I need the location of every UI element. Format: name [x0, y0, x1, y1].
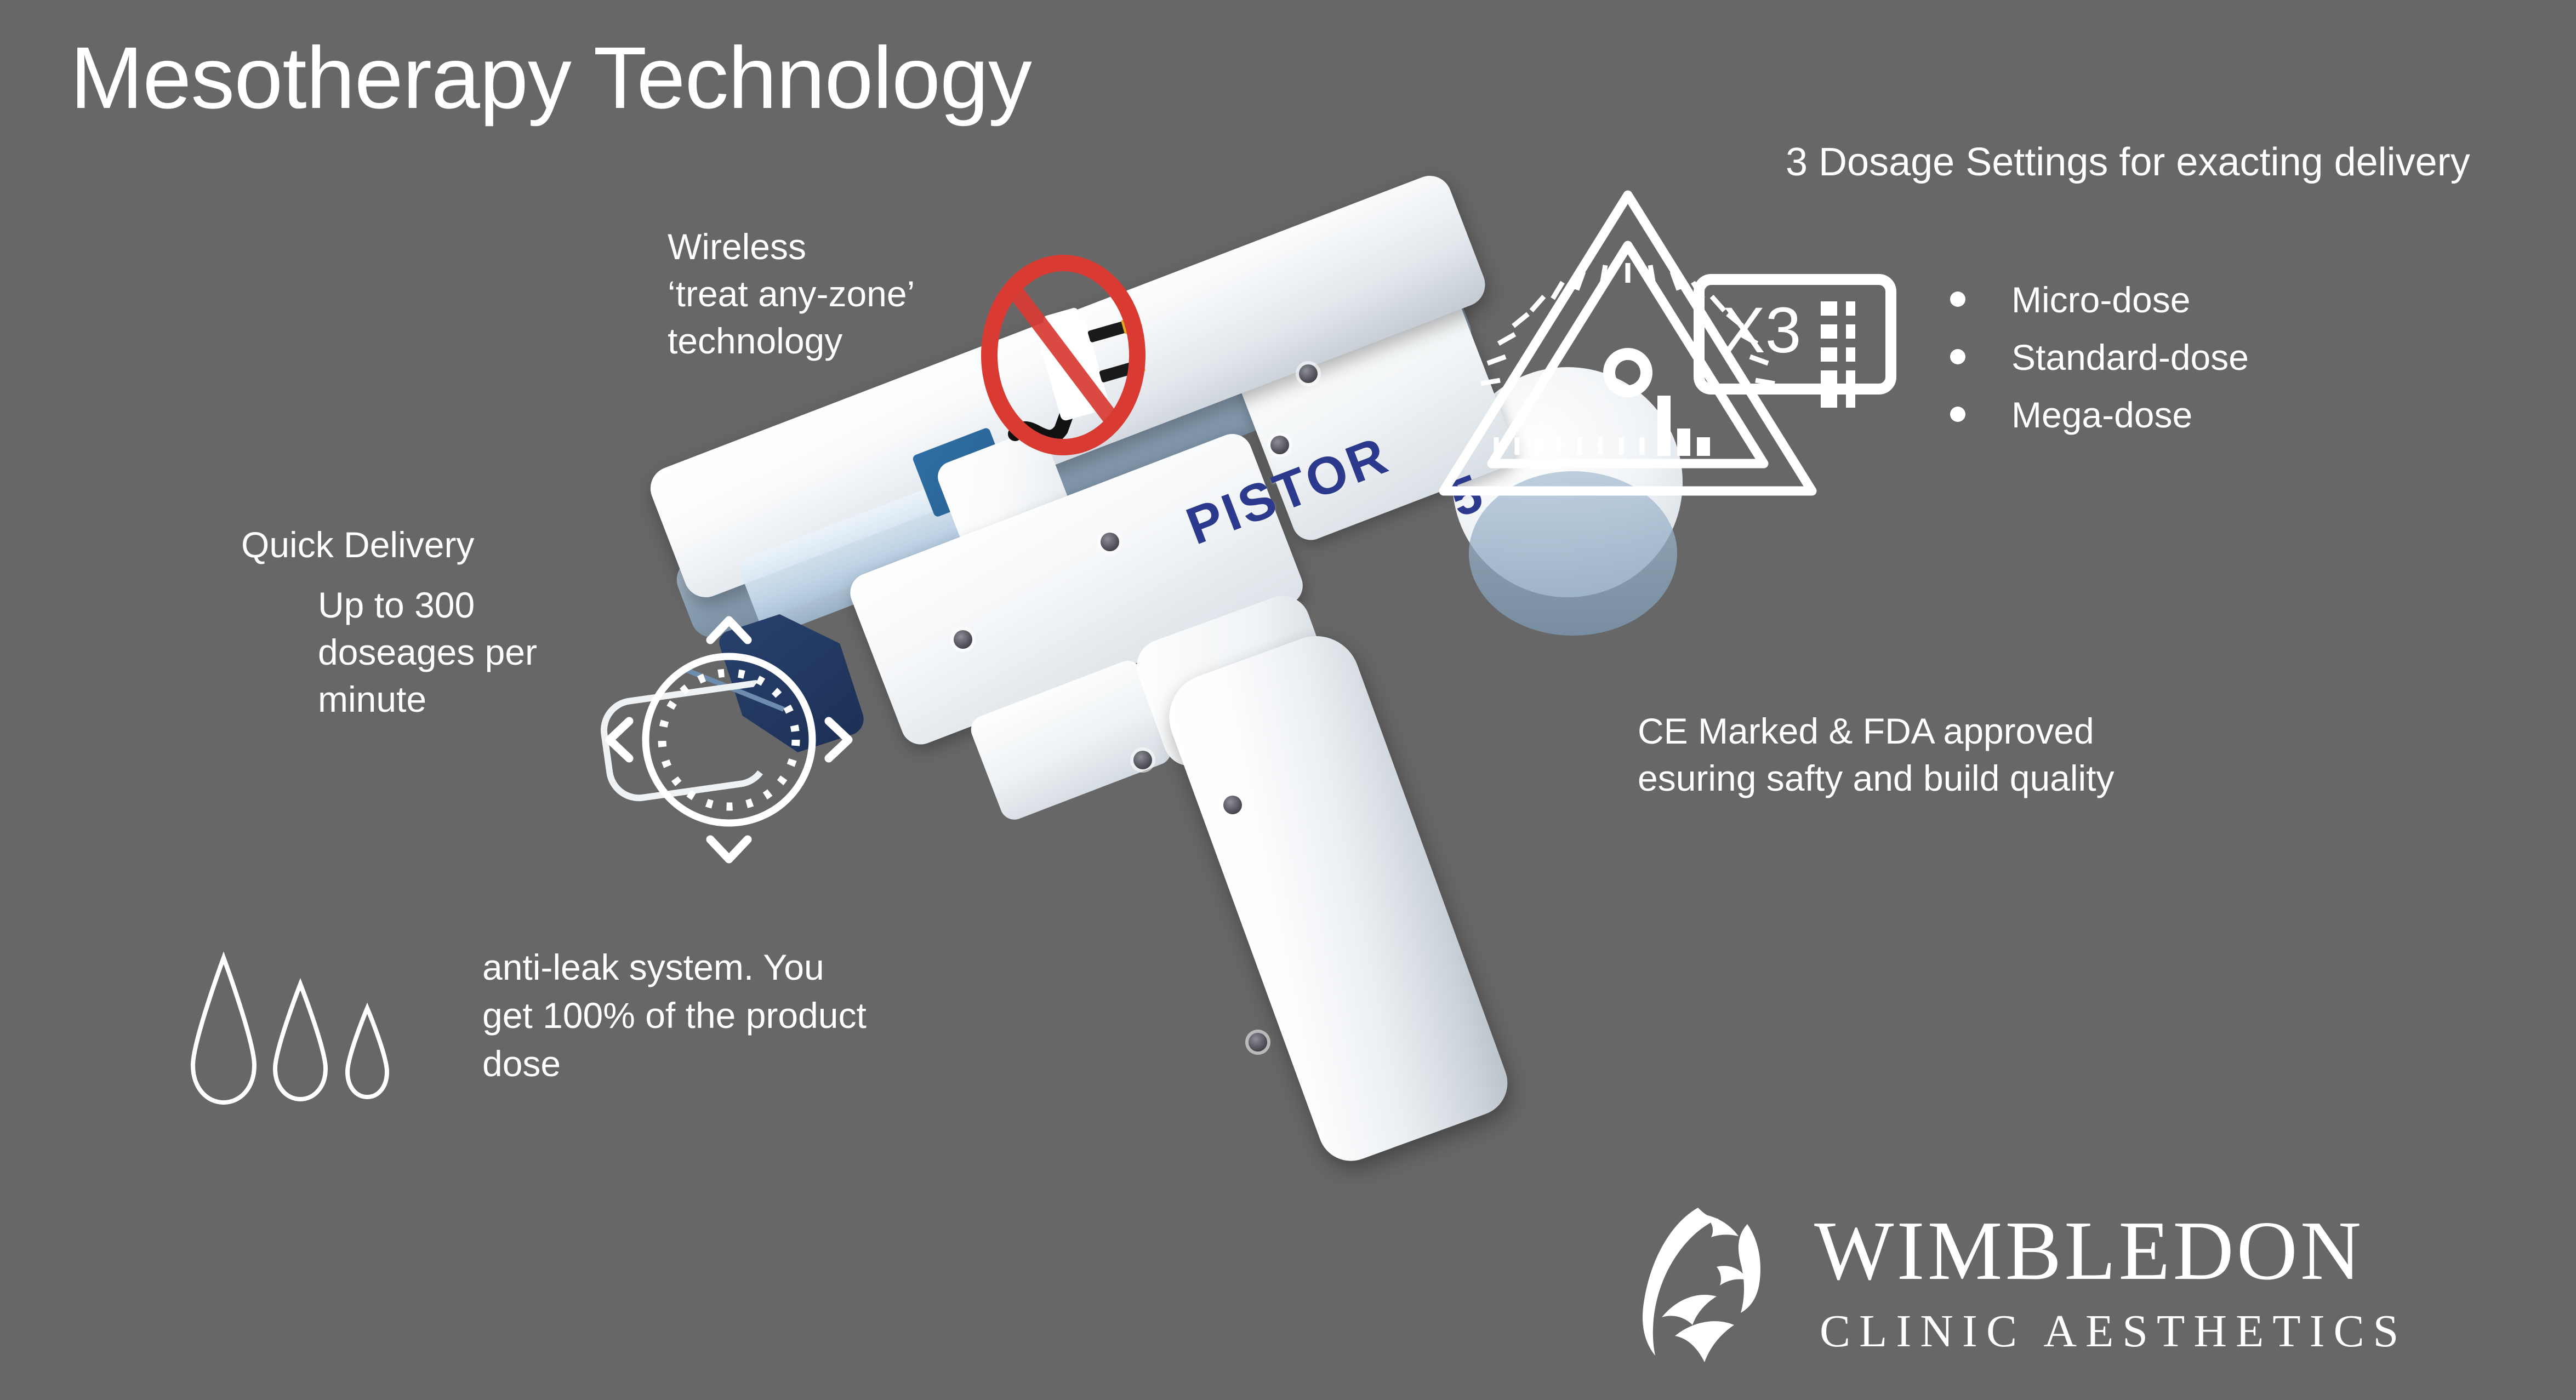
wireless-text-block: Wireless ‘treat any-zone’ technology — [668, 224, 915, 364]
wireless-line-3: technology — [668, 318, 915, 365]
bullet-icon — [1950, 407, 1965, 422]
list-item: Standard-dose — [1940, 339, 2249, 397]
list-item: Mega-dose — [1940, 397, 2249, 454]
bullet-icon — [1950, 292, 1965, 307]
bullet-icon — [1950, 349, 1965, 364]
anti-leak-line-3: dose — [482, 1040, 867, 1088]
dpad-circle-icon — [597, 608, 860, 871]
compliance-line-1: CE Marked & FDA approved — [1638, 708, 2115, 755]
quick-delivery-body-label: Up to 300 doseages per minute — [318, 582, 625, 723]
dosage-heading: 3 Dosage Settings for exacting delivery — [1786, 137, 2470, 188]
slide-canvas: PISTOR 5 Mesotherapy Technology Wireless… — [0, 0, 2576, 1400]
logo-wordmark: WIMBLEDON — [1814, 1209, 2407, 1293]
compliance-line-2: esuring safty and build quality — [1638, 755, 2115, 802]
brand-logo: WIMBLEDON CLINIC AESTHETICS — [1633, 1200, 2521, 1364]
device-screw — [1270, 436, 1289, 454]
dosage-heading-line-2: exacting delivery — [2176, 140, 2470, 184]
x3-badge: X3 — [1694, 274, 1896, 395]
device-screw — [1223, 796, 1242, 814]
device-screw — [1101, 533, 1119, 551]
no-plug-icon — [954, 241, 1173, 460]
quick-delivery-body: Up to 300 doseages per minute — [318, 582, 625, 723]
dot-grid-icon — [1821, 301, 1868, 416]
device-handle — [1157, 624, 1517, 1170]
list-item: Micro-dose — [1940, 282, 2249, 339]
anti-leak-line-2: get 100% of the product — [482, 992, 867, 1040]
anti-leak-line-1: anti-leak system. You — [482, 944, 867, 992]
anti-leak-text-block: anti-leak system. You get 100% of the pr… — [482, 944, 867, 1088]
logo-text-group: WIMBLEDON CLINIC AESTHETICS — [1814, 1209, 2407, 1355]
device-screw — [1299, 364, 1318, 383]
wireless-line-1: Wireless — [668, 224, 915, 271]
x3-badge-label: X3 — [1722, 298, 1801, 363]
dosage-item-label: Micro-dose — [2011, 279, 2190, 320]
device-screw — [1133, 751, 1152, 769]
dosage-item-label: Mega-dose — [2011, 395, 2192, 435]
swoosh-icon — [1633, 1200, 1809, 1364]
quick-delivery-heading: Quick Delivery — [241, 522, 474, 569]
droplets-icon — [181, 948, 477, 1112]
logo-subtitle: CLINIC AESTHETICS — [1820, 1308, 2407, 1355]
page-title: Mesotherapy Technology — [70, 27, 1031, 128]
dosage-options-list: Micro-dose Standard-dose Mega-dose — [1940, 282, 2249, 454]
compliance-text-block: CE Marked & FDA approved esuring safty a… — [1638, 708, 2115, 802]
quick-delivery-heading-label: Quick Delivery — [241, 522, 474, 569]
device-screw — [1249, 1033, 1267, 1052]
device-screw — [954, 630, 972, 649]
wireless-line-2: ‘treat any-zone’ — [668, 271, 915, 318]
dosage-heading-line-1: 3 Dosage Settings for — [1786, 140, 2165, 184]
dosage-item-label: Standard-dose — [2011, 337, 2249, 378]
